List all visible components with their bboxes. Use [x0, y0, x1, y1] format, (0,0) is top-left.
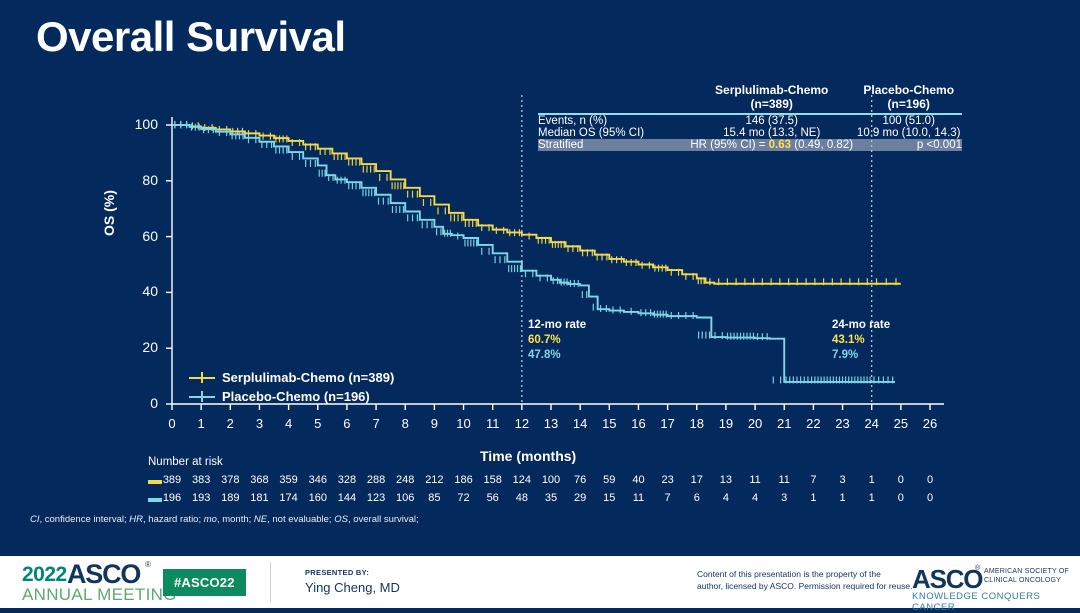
- y-axis-label: OS (%): [101, 190, 117, 236]
- x-axis-tick-label: 7: [364, 416, 388, 431]
- annotation-12-month-title: 12-mo rate: [528, 318, 586, 333]
- x-axis-tick-label: 18: [685, 416, 709, 431]
- x-axis-tick-label: 25: [889, 416, 913, 431]
- logo-registered-mark-icon: ®: [975, 565, 980, 572]
- x-axis-tick-label: 21: [772, 416, 796, 431]
- number-at-risk-value: 346: [305, 474, 331, 486]
- y-axis-tick-label: 80: [116, 172, 158, 188]
- number-at-risk-value: 193: [188, 492, 214, 504]
- number-at-risk-value: 29: [567, 492, 593, 504]
- number-at-risk-title: Number at risk: [148, 456, 223, 468]
- x-axis-tick-label: 26: [918, 416, 942, 431]
- registered-mark-icon: ®: [145, 560, 151, 569]
- presented-by-label: PRESENTED BY:: [305, 568, 369, 577]
- number-at-risk-value: 6: [684, 492, 710, 504]
- number-at-risk-value: 1: [830, 492, 856, 504]
- footer-year: 2022: [22, 563, 67, 587]
- number-at-risk-value: 123: [363, 492, 389, 504]
- asco-tagline: KNOWLEDGE CONQUERS CANCER: [912, 591, 1080, 613]
- x-axis-tick-label: 13: [539, 416, 563, 431]
- chart-legend: Serplulimab-Chemo (n=389) Placebo-Chemo …: [189, 368, 394, 406]
- annotation-12-month: 12-mo rate 60.7% 47.8%: [528, 318, 586, 363]
- y-axis-tick-label: 100: [116, 116, 158, 132]
- x-axis-tick-label: 12: [510, 416, 534, 431]
- number-at-risk-value: 3: [830, 474, 856, 486]
- x-axis-tick-label: 19: [714, 416, 738, 431]
- number-at-risk-value: 76: [567, 474, 593, 486]
- number-at-risk-value: 15: [596, 492, 622, 504]
- copyright-notice: Content of this presentation is the prop…: [697, 569, 912, 592]
- number-at-risk-value: 378: [217, 474, 243, 486]
- legend-label-serplulimab: Serplulimab-Chemo (n=389): [222, 370, 394, 385]
- number-at-risk-value: 17: [684, 474, 710, 486]
- number-at-risk-value: 4: [742, 492, 768, 504]
- legend-label-placebo: Placebo-Chemo (n=196): [222, 389, 370, 404]
- number-at-risk-value: 48: [509, 492, 535, 504]
- number-at-risk-value: 383: [188, 474, 214, 486]
- number-at-risk-value: 1: [859, 474, 885, 486]
- number-at-risk-value: 181: [246, 492, 272, 504]
- x-axis-tick-label: 16: [626, 416, 650, 431]
- slide-footer: 2022 ASCO ® ANNUAL MEETING #ASCO22 PRESE…: [0, 556, 1080, 608]
- x-axis-tick-label: 8: [393, 416, 417, 431]
- number-at-risk-value: 196: [159, 492, 185, 504]
- number-at-risk-value: 7: [655, 492, 681, 504]
- footer-divider: [270, 562, 271, 602]
- number-at-risk-value: 59: [596, 474, 622, 486]
- number-at-risk-value: 11: [625, 492, 651, 504]
- x-axis-tick-label: 22: [801, 416, 825, 431]
- number-at-risk-value: 3: [771, 492, 797, 504]
- legend-item-placebo: Placebo-Chemo (n=196): [189, 387, 394, 406]
- annotation-24-month-value-placebo: 7.9%: [832, 348, 890, 363]
- survival-curve-serplulimab: [172, 125, 901, 284]
- footer-annual-meeting: ANNUAL MEETING: [22, 585, 177, 605]
- y-axis-tick-label: 0: [116, 395, 158, 411]
- number-at-risk-value: 11: [771, 474, 797, 486]
- number-at-risk-value: 186: [451, 474, 477, 486]
- number-at-risk-value: 4: [713, 492, 739, 504]
- number-at-risk-value: 23: [655, 474, 681, 486]
- hashtag-badge: #ASCO22: [163, 569, 246, 596]
- x-axis-label: Time (months): [480, 448, 576, 464]
- x-axis-tick-label: 24: [860, 416, 884, 431]
- number-at-risk-value: 1: [859, 492, 885, 504]
- number-at-risk-value: 248: [392, 474, 418, 486]
- number-at-risk-value: 100: [538, 474, 564, 486]
- number-at-risk-value: 11: [742, 474, 768, 486]
- number-at-risk-value: 174: [276, 492, 302, 504]
- number-at-risk-value: 124: [509, 474, 535, 486]
- number-at-risk-value: 56: [480, 492, 506, 504]
- number-at-risk-value: 0: [917, 492, 943, 504]
- number-at-risk-value: 40: [625, 474, 651, 486]
- x-axis-tick-label: 23: [831, 416, 855, 431]
- number-at-risk-value: 0: [888, 492, 914, 504]
- number-at-risk-value: 85: [421, 492, 447, 504]
- number-at-risk-value: 106: [392, 492, 418, 504]
- asco-society-name: AMERICAN SOCIETY OF CLINICAL ONCOLOGY: [984, 567, 1069, 585]
- x-axis-tick-label: 2: [218, 416, 242, 431]
- annotation-24-month: 24-mo rate 43.1% 7.9%: [832, 318, 890, 363]
- number-at-risk-value: 368: [246, 474, 272, 486]
- x-axis-tick-label: 15: [597, 416, 621, 431]
- x-axis-tick-label: 9: [422, 416, 446, 431]
- number-at-risk-value: 0: [917, 474, 943, 486]
- number-at-risk-value: 144: [334, 492, 360, 504]
- number-at-risk-value: 328: [334, 474, 360, 486]
- number-at-risk-value: 13: [713, 474, 739, 486]
- annotation-12-month-value-serplulimab: 60.7%: [528, 333, 586, 348]
- y-axis-tick-label: 60: [116, 228, 158, 244]
- x-axis-tick-label: 11: [481, 416, 505, 431]
- number-at-risk-value: 1: [800, 492, 826, 504]
- number-at-risk-value: 160: [305, 492, 331, 504]
- abbreviations-footnote: CI, confidence interval; HR, hazard rati…: [30, 514, 419, 525]
- number-at-risk-value: 288: [363, 474, 389, 486]
- number-at-risk-value: 158: [480, 474, 506, 486]
- annotation-12-month-value-placebo: 47.8%: [528, 348, 586, 363]
- number-at-risk-value: 189: [217, 492, 243, 504]
- number-at-risk-value: 212: [421, 474, 447, 486]
- x-axis-tick-label: 17: [656, 416, 680, 431]
- x-axis-tick-label: 3: [247, 416, 271, 431]
- slide-root: Overall Survival Serplulimab-Chemo (n=38…: [0, 0, 1080, 608]
- x-axis-tick-label: 6: [335, 416, 359, 431]
- x-axis-tick-label: 10: [452, 416, 476, 431]
- presenter-name: Ying Cheng, MD: [305, 580, 400, 595]
- y-axis-tick-label: 40: [116, 283, 158, 299]
- number-at-risk-value: 72: [451, 492, 477, 504]
- number-at-risk-value: 0: [888, 474, 914, 486]
- number-at-risk-value: 7: [800, 474, 826, 486]
- annotation-24-month-value-serplulimab: 43.1%: [832, 333, 890, 348]
- annotation-24-month-title: 24-mo rate: [832, 318, 890, 333]
- y-axis-tick-label: 20: [116, 339, 158, 355]
- x-axis-tick-label: 4: [277, 416, 301, 431]
- legend-swatch-placebo: [189, 391, 215, 402]
- x-axis-tick-label: 5: [306, 416, 330, 431]
- x-axis-tick-label: 1: [189, 416, 213, 431]
- legend-item-serplulimab: Serplulimab-Chemo (n=389): [189, 368, 394, 387]
- number-at-risk-value: 389: [159, 474, 185, 486]
- number-at-risk-value: 35: [538, 492, 564, 504]
- x-axis-tick-label: 0: [160, 416, 184, 431]
- x-axis-tick-label: 20: [743, 416, 767, 431]
- x-axis-tick-label: 14: [568, 416, 592, 431]
- number-at-risk-value: 359: [276, 474, 302, 486]
- legend-swatch-serplulimab: [189, 372, 215, 383]
